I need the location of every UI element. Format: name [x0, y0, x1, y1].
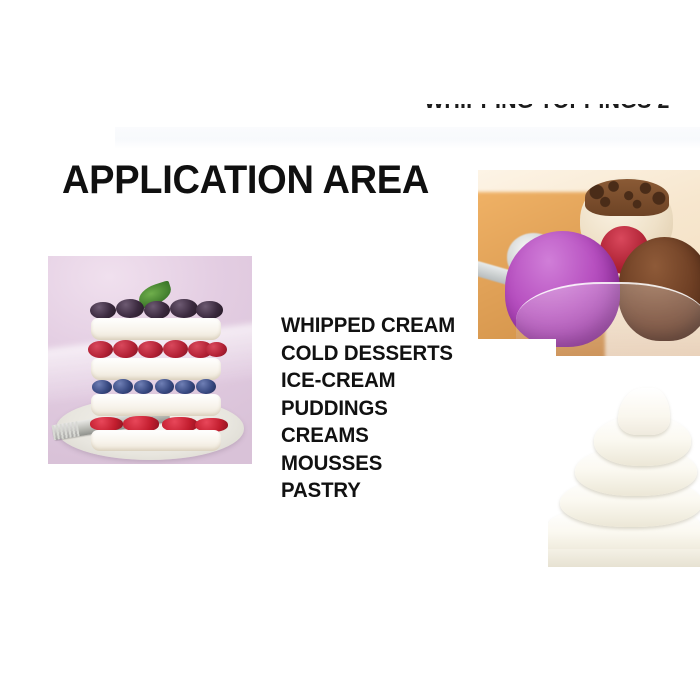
blueberry [113, 379, 132, 394]
berry-layer-cake-photo [48, 256, 252, 464]
blackberry [116, 299, 144, 318]
raspberry [163, 340, 188, 358]
blueberry [92, 380, 111, 394]
list-item: PUDDINGS [281, 395, 455, 423]
photo-corner-notch [478, 339, 556, 356]
application-area-list: WHIPPED CREAM COLD DESSERTS ICE-CREAM PU… [281, 312, 461, 505]
swirl-peak [618, 388, 670, 435]
ice-cream-bowl-photo [478, 170, 700, 356]
page-title: APPLICATION AREA [62, 158, 429, 202]
list-item: WHIPPED CREAM [281, 312, 455, 340]
raspberry [138, 341, 163, 358]
blueberry-layer [87, 378, 225, 395]
blackberry [144, 301, 170, 319]
cream-layer [91, 358, 222, 380]
raspberry-layer [87, 339, 225, 360]
slide-card-band [115, 127, 700, 149]
strawberry [90, 417, 123, 431]
raspberry [206, 342, 227, 357]
chocolate-sprinkles [585, 179, 669, 216]
blueberry [175, 380, 194, 394]
cream-layer [91, 430, 222, 451]
soft-serve-swirl-photo [548, 386, 700, 567]
raspberry [113, 340, 138, 358]
cake-stack [91, 291, 222, 449]
blueberry [134, 380, 153, 394]
list-item: MOUSSES [281, 450, 455, 478]
blueberry [155, 379, 174, 394]
blackberry [170, 299, 198, 318]
blackberry [90, 302, 116, 320]
swirl-base [548, 549, 700, 567]
list-item: CREAMS [281, 422, 455, 450]
clipped-heading-container: WHIPPING TOPPINGS 2 [424, 104, 700, 128]
presentation-slide: WHIPPING TOPPINGS 2 APPLICATION AREA WHI… [0, 0, 700, 700]
cream-layer [91, 318, 222, 340]
cream-layer [91, 394, 222, 416]
list-item: PASTRY [281, 477, 455, 505]
list-item: COLD DESSERTS [281, 340, 455, 368]
list-item: ICE-CREAM [281, 367, 455, 395]
blackberry [196, 301, 222, 319]
raspberry [88, 341, 113, 358]
clipped-slide-heading: WHIPPING TOPPINGS 2 [424, 104, 670, 114]
blueberry [196, 379, 215, 394]
